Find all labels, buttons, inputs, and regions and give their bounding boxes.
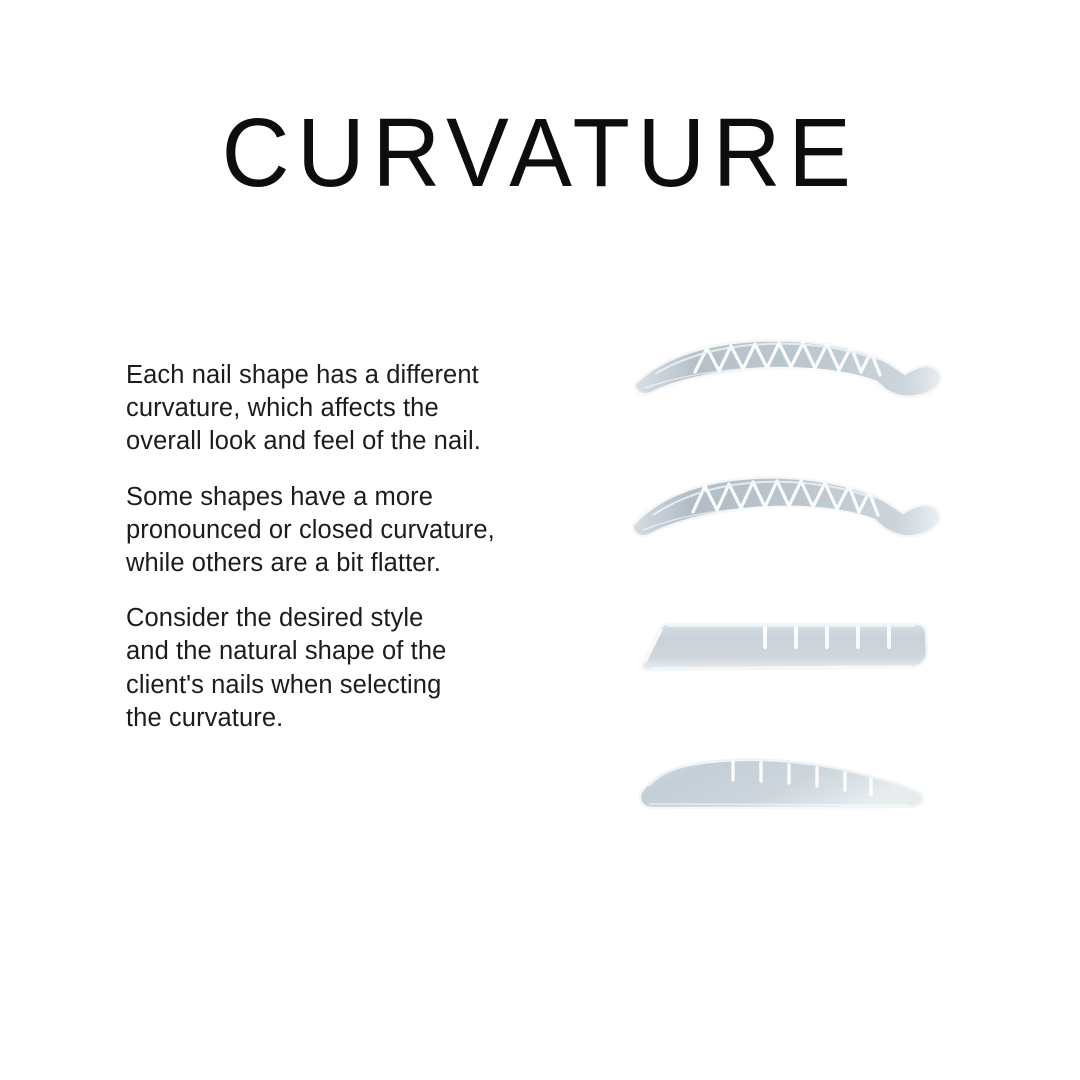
paragraph-1-line-2: curvature, which affects the bbox=[126, 392, 596, 425]
paragraph-3-line-1: Consider the desired style bbox=[126, 602, 596, 635]
paragraph-2-line-1: Some shapes have a more bbox=[126, 481, 596, 514]
paragraph-3: Consider the desired style and the natur… bbox=[126, 602, 596, 735]
paragraph-3-line-4: the curvature. bbox=[126, 702, 596, 735]
nail-form-flat bbox=[615, 602, 960, 702]
paragraph-3-line-3: client's nails when selecting bbox=[126, 669, 596, 702]
paragraph-2: Some shapes have a more pronounced or cl… bbox=[126, 481, 596, 581]
paragraph-1-line-3: overall look and feel of the nail. bbox=[126, 425, 596, 458]
paragraph-1-line-1: Each nail shape has a different bbox=[126, 359, 596, 392]
paragraph-2-line-2: pronounced or closed curvature, bbox=[126, 514, 596, 547]
paragraph-3-line-2: and the natural shape of the bbox=[126, 635, 596, 668]
bottom-edge-highlight bbox=[649, 804, 909, 805]
slide-canvas: CURVATURE Each nail shape has a differen… bbox=[0, 0, 1080, 1080]
paragraph-2-line-3: while others are a bit flatter. bbox=[126, 547, 596, 580]
nail-form-body bbox=[635, 340, 941, 396]
nail-form-tapered bbox=[615, 740, 960, 840]
body-copy: Each nail shape has a different curvatur… bbox=[126, 359, 596, 735]
paragraph-1: Each nail shape has a different curvatur… bbox=[126, 359, 596, 459]
page-title: CURVATURE bbox=[0, 104, 1080, 202]
nail-form-gallery bbox=[615, 330, 960, 840]
nail-form-body bbox=[643, 624, 927, 670]
nail-form-deep-curve-2 bbox=[615, 465, 960, 580]
nail-form-deep-curve-1 bbox=[615, 330, 960, 440]
